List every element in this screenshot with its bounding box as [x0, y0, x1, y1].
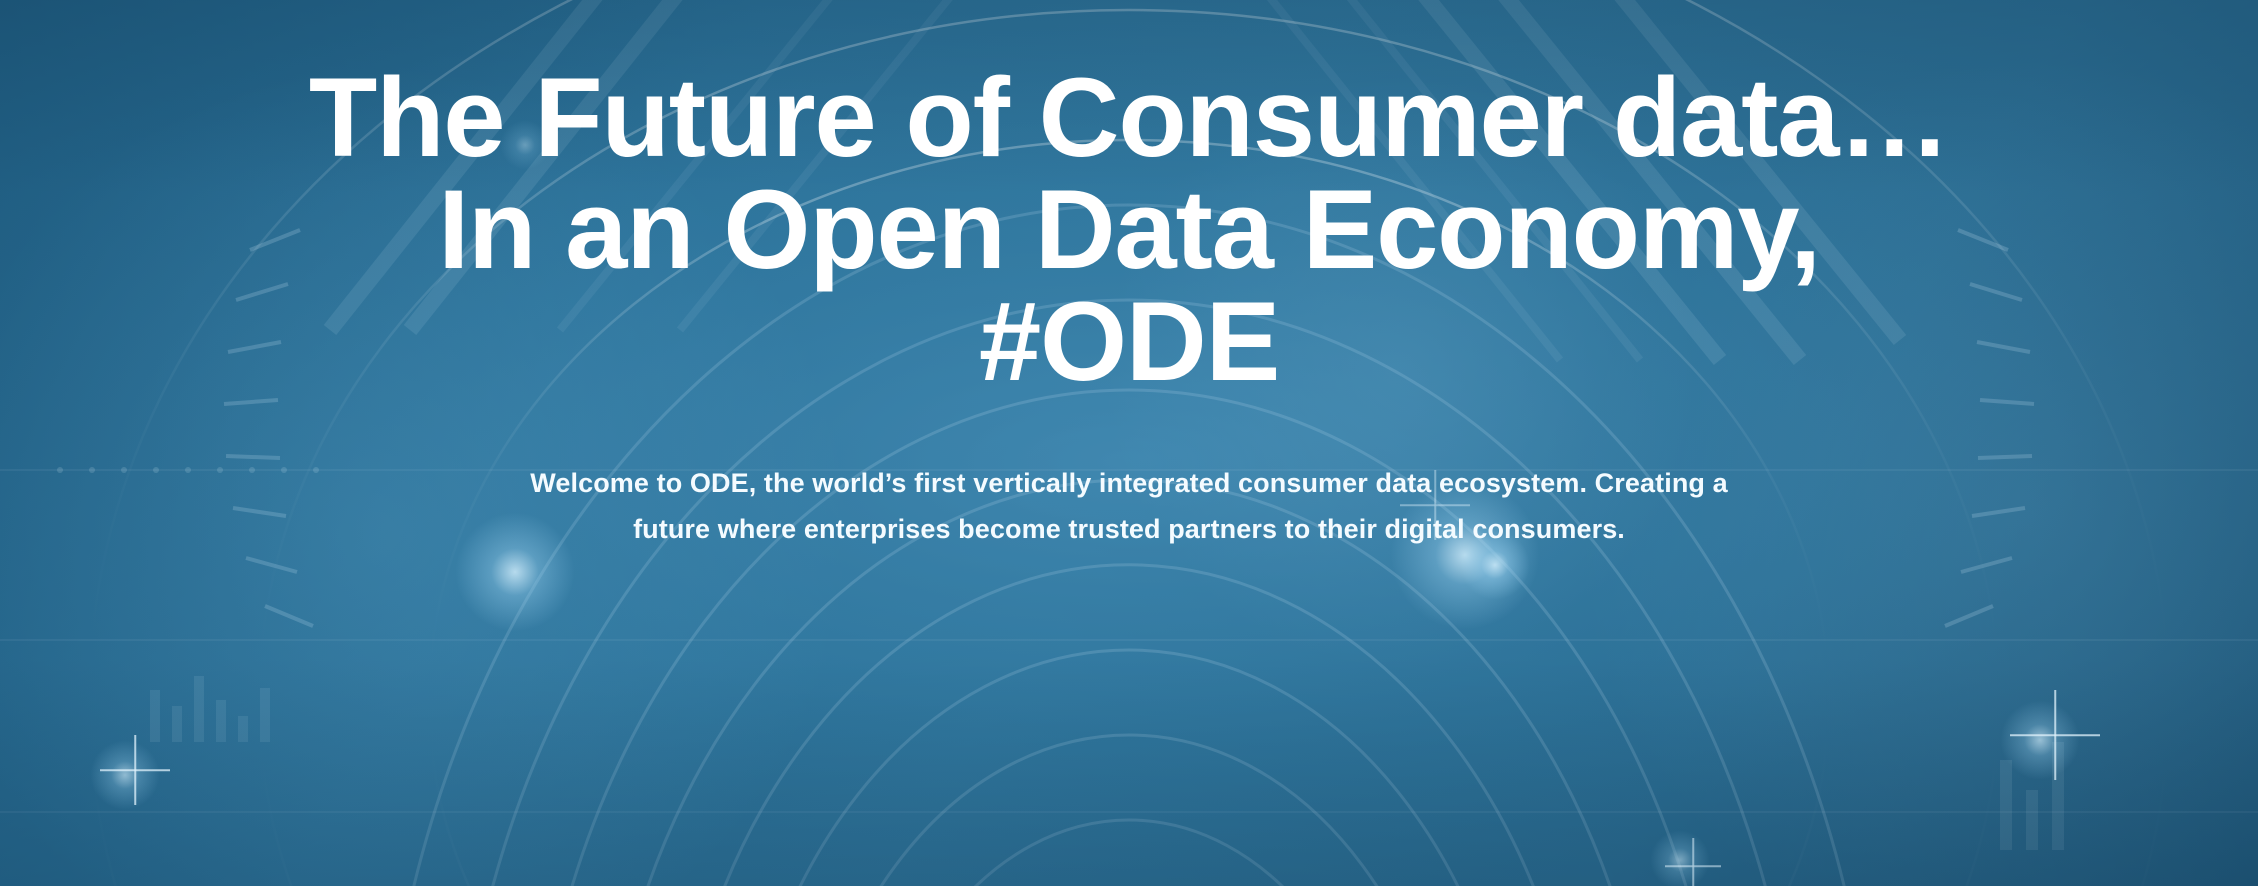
headline-line-2: In an Open Data Economy,: [19, 174, 2239, 286]
hero-headline: The Future of Consumer data… In an Open …: [19, 0, 2239, 398]
sparkle-icon: [100, 735, 170, 805]
light-glow-accent: [90, 740, 160, 810]
sparkle-icon: [1665, 838, 1721, 886]
hero-subtitle: Welcome to ODE, the world’s first vertic…: [529, 398, 1729, 552]
light-glow-accent: [1650, 830, 1710, 886]
sparkle-icon: [2010, 690, 2100, 780]
headline-line-3: #ODE: [19, 286, 2239, 398]
headline-line-1: The Future of Consumer data…: [19, 62, 2239, 174]
light-glow-accent: [2000, 700, 2080, 780]
hero-content: The Future of Consumer data… In an Open …: [0, 0, 2258, 552]
hero-banner: The Future of Consumer data… In an Open …: [0, 0, 2258, 886]
